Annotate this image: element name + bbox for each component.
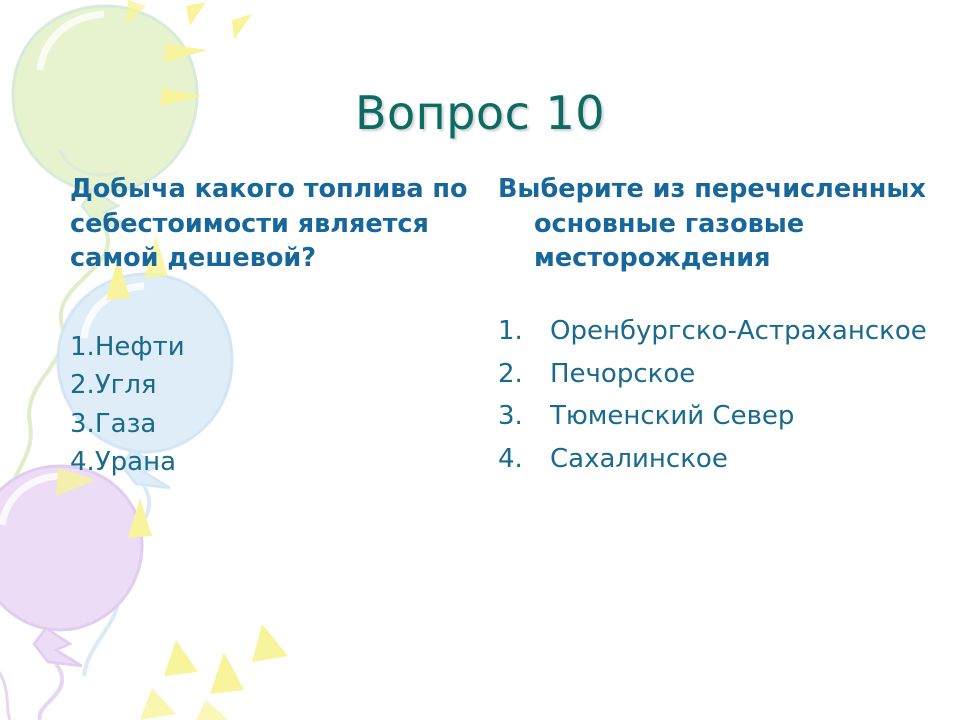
list-item[interactable]: 3.Газа bbox=[70, 405, 470, 443]
option-label: Нефти bbox=[95, 332, 185, 362]
option-label: Урана bbox=[95, 447, 176, 477]
option-number: 4. bbox=[70, 447, 95, 477]
list-item[interactable]: 1.Нефти bbox=[70, 328, 470, 366]
list-item[interactable]: 2.Угля bbox=[70, 366, 470, 404]
list-item[interactable]: 2.Печорское bbox=[498, 357, 928, 392]
option-label: Газа bbox=[95, 409, 157, 439]
option-label: Сахалинское bbox=[550, 444, 728, 474]
option-number: 2. bbox=[70, 370, 95, 400]
list-item[interactable]: 3.Тюменский Север bbox=[498, 399, 928, 434]
option-number: 2. bbox=[498, 357, 523, 392]
option-label: Оренбургско-Астраханское bbox=[550, 316, 927, 346]
list-item[interactable]: 4.Сахалинское bbox=[498, 442, 928, 477]
option-number: 1. bbox=[70, 332, 95, 362]
left-answer-list: 1.Нефти 2.Угля 3.Газа 4.Урана bbox=[70, 328, 470, 482]
right-answer-list: 1.Оренбургско-Астраханское 2.Печорское 3… bbox=[498, 314, 928, 476]
list-item[interactable]: 1.Оренбургско-Астраханское bbox=[498, 314, 928, 349]
slide-title: Вопрос 10 bbox=[0, 86, 960, 140]
option-number: 3. bbox=[70, 409, 95, 439]
left-column-heading: Добыча какого топлива по себестоимости я… bbox=[70, 172, 470, 276]
option-number: 1. bbox=[498, 314, 523, 349]
option-label: Тюменский Север bbox=[550, 401, 794, 431]
option-number: 3. bbox=[498, 399, 523, 434]
left-column: Добыча какого топлива по себестоимости я… bbox=[70, 172, 470, 482]
right-column: Выберите из перечисленных основные газов… bbox=[498, 172, 928, 484]
right-column-heading: Выберите из перечисленных основные газов… bbox=[498, 172, 928, 276]
option-label: Печорское bbox=[550, 359, 695, 389]
slide-canvas: Вопрос 10 Добыча какого топлива по себес… bbox=[0, 0, 960, 720]
option-label: Угля bbox=[95, 370, 157, 400]
list-item[interactable]: 4.Урана bbox=[70, 443, 470, 481]
balloon-purple-icon bbox=[0, 466, 142, 720]
option-number: 4. bbox=[498, 442, 523, 477]
